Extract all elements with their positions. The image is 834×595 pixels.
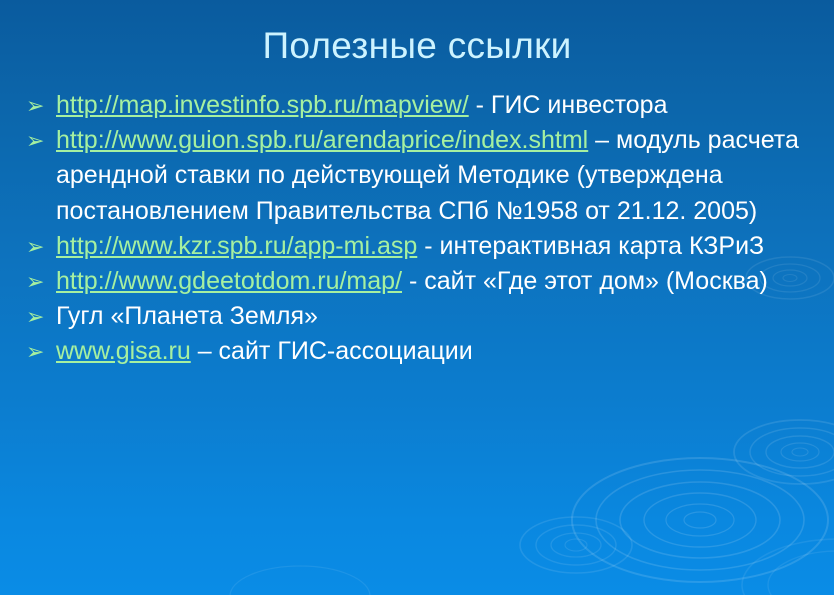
link-kzr-app-mi[interactable]: http://www.kzr.spb.ru/app-mi.asp [56, 232, 417, 260]
bullet-arrow-icon: ➢ [26, 88, 50, 123]
link-gisa-ru[interactable]: www.gisa.ru [56, 337, 191, 365]
list-item: ➢http://www.gdeetotdom.ru/map/ - сайт «Г… [26, 264, 816, 299]
slide-title: Полезные ссылки [0, 24, 834, 68]
bullet-arrow-icon: ➢ [26, 123, 50, 158]
bullet-arrow-icon: ➢ [26, 299, 50, 334]
list-item: ➢http://www.kzr.spb.ru/app-mi.asp - инте… [26, 229, 816, 264]
link-map-investinfo[interactable]: http://map.investinfo.spb.ru/mapview/ [56, 91, 469, 119]
link-gdeetotdom-map[interactable]: http://www.gdeetotdom.ru/map/ [56, 267, 402, 295]
bullet-arrow-icon: ➢ [26, 334, 50, 369]
link-guion-arendaprice[interactable]: http://www.guion.spb.ru/arendaprice/inde… [56, 126, 588, 154]
list-item: ➢http://map.investinfo.spb.ru/mapview/ -… [26, 88, 816, 123]
presentation-slide: Полезные ссылки ➢http://map.investinfo.s… [0, 0, 834, 595]
list-item-text: Гугл «Планета Земля» [56, 302, 318, 330]
bullet-arrow-icon: ➢ [26, 229, 50, 264]
bullet-arrow-icon: ➢ [26, 264, 50, 299]
list-item: ➢Гугл «Планета Земля» [26, 299, 816, 334]
list-item-text: - сайт «Где этот дом» (Москва) [402, 267, 768, 295]
list-item-text: - ГИС инвестора [469, 91, 668, 119]
list-item: ➢www.gisa.ru – сайт ГИС-ассоциации [26, 334, 816, 369]
list-item-text: - интерактивная карта КЗРиЗ [417, 232, 764, 260]
links-list: ➢http://map.investinfo.spb.ru/mapview/ -… [26, 88, 816, 370]
list-item: ➢http://www.guion.spb.ru/arendaprice/ind… [26, 123, 816, 229]
list-item-text: – сайт ГИС-ассоциации [191, 337, 473, 365]
